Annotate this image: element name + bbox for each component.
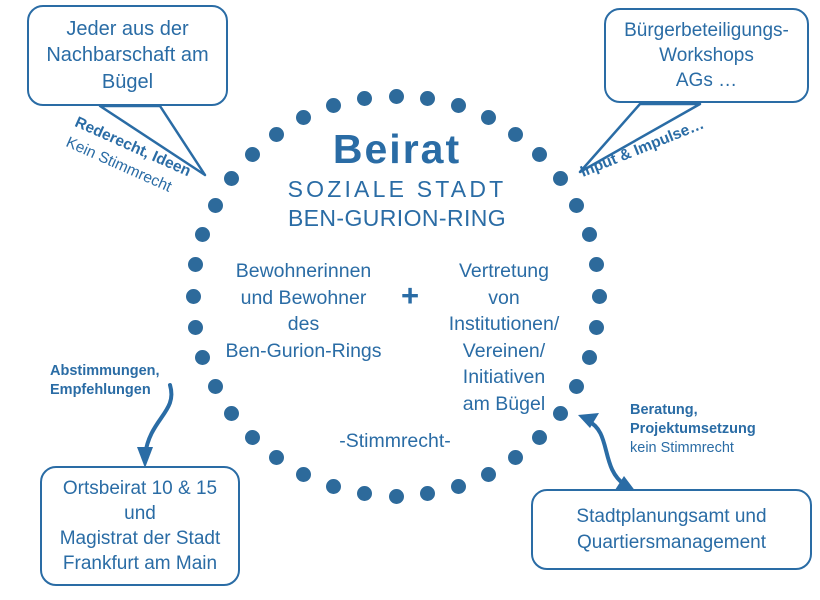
callout-top-left-line-1: Jeder aus der — [29, 16, 226, 42]
connector-label-bottom-right-line-1: Beratung, — [630, 401, 756, 420]
center-membership-groups: Bewohnerinnen und Bewohner des Ben-Gurio… — [205, 258, 590, 417]
institutions-line-2: von — [429, 285, 579, 312]
callout-bottom-left-line-1: Ortsbeirat 10 & 15 — [42, 476, 238, 501]
connector-label-bottom-left: Abstimmungen, Empfehlungen — [50, 362, 160, 400]
residents-line-3: des — [216, 311, 391, 338]
page-title: Beirat — [222, 128, 572, 171]
connector-label-bottom-right-line-2: Projektumsetzung — [630, 420, 756, 439]
arrow-abstimmungen-head — [137, 447, 153, 468]
plus-icon: + — [391, 258, 429, 311]
diagram-canvas: Jeder aus der Nachbarschaft am Bügel Bür… — [0, 0, 820, 600]
callout-top-left[interactable]: Jeder aus der Nachbarschaft am Bügel — [27, 5, 228, 106]
institutions-line-5: Initiativen — [429, 364, 579, 391]
residents-line-4: Ben-Gurion-Rings — [216, 338, 391, 365]
center-subtitle-1: SOZIALE STADT — [222, 176, 572, 203]
callout-top-right[interactable]: Bürgerbeteiligungs- Workshops AGs … — [604, 8, 809, 103]
institutions-line-3: Institutionen/ — [429, 311, 579, 338]
institutions-line-1: Vertretung — [429, 258, 579, 285]
callout-bottom-right-line-1: Stadtplanungsamt und — [533, 504, 810, 529]
callout-bottom-left-line-4: Frankfurt am Main — [42, 551, 238, 576]
connector-label-bottom-left-line-2: Empfehlungen — [50, 381, 160, 400]
callout-top-right-line-3: AGs … — [606, 68, 807, 93]
residents-line-1: Bewohnerinnen — [216, 258, 391, 285]
connector-label-bottom-left-line-1: Abstimmungen, — [50, 362, 160, 381]
callout-top-right-line-1: Bürgerbeteiligungs- — [606, 18, 807, 43]
callout-bottom-right-line-2: Quartiersmanagement — [533, 530, 810, 555]
connector-label-bottom-right-line-3: kein Stimmrecht — [630, 439, 756, 458]
callout-bottom-right[interactable]: Stadtplanungsamt und Quartiersmanagement — [531, 489, 812, 570]
membership-group-institutions: Vertretung von Institutionen/ Vereinen/ … — [429, 258, 579, 417]
callout-top-left-line-2: Nachbarschaft am — [29, 42, 226, 68]
institutions-line-6: am Bügel — [429, 391, 579, 418]
center-title-block: Beirat SOZIALE STADT BEN-GURION-RING — [222, 128, 572, 232]
callout-bottom-left-line-3: Magistrat der Stadt — [42, 526, 238, 551]
center-voting-note: -Stimmrecht- — [255, 430, 535, 453]
callout-bottom-left-line-2: und — [42, 501, 238, 526]
residents-line-2: und Bewohner — [216, 285, 391, 312]
callout-bottom-left[interactable]: Ortsbeirat 10 & 15 und Magistrat der Sta… — [40, 466, 240, 586]
membership-group-residents: Bewohnerinnen und Bewohner des Ben-Gurio… — [216, 258, 391, 364]
center-subtitle-2: BEN-GURION-RING — [222, 205, 572, 232]
connector-label-bottom-right: Beratung, Projektumsetzung kein Stimmrec… — [630, 401, 756, 458]
callout-top-right-line-2: Workshops — [606, 43, 807, 68]
arrow-beratung-path — [588, 421, 625, 485]
institutions-line-4: Vereinen/ — [429, 338, 579, 365]
callout-top-left-line-3: Bügel — [29, 69, 226, 95]
